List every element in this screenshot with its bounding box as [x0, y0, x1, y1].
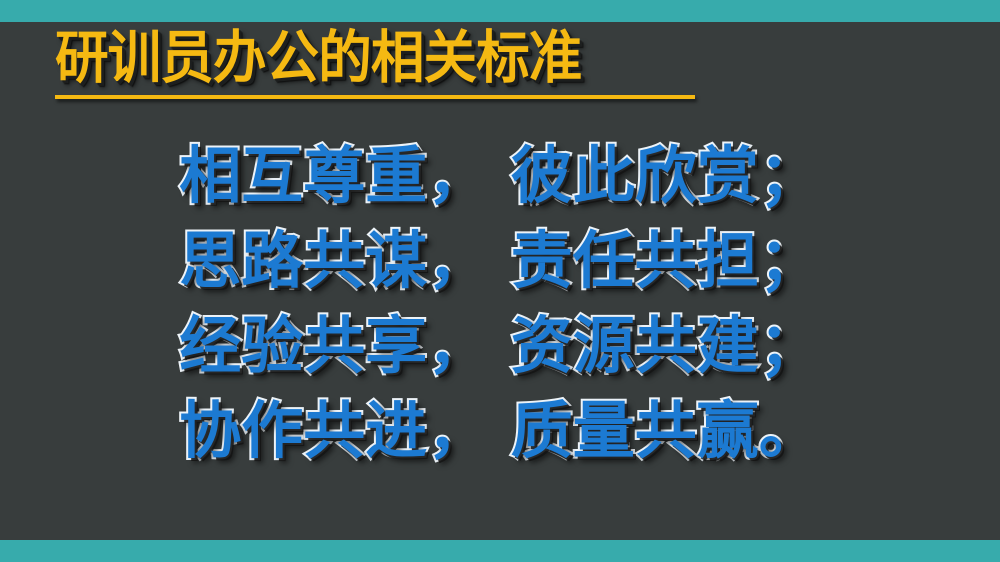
top-accent-bar [0, 0, 1000, 22]
body-text-block: 相互尊重， 彼此欣赏； 思路共谋， 责任共担； 经验共享， 资源共建； 协作共进… [0, 133, 1000, 473]
title-underline-rule [55, 95, 695, 99]
slide-canvas: 研训员办公的相关标准 相互尊重， 彼此欣赏； 思路共谋， 责任共担； 经验共享，… [0, 0, 1000, 562]
page-title: 研训员办公的相关标准 [55, 26, 713, 90]
body-line-1: 相互尊重， 彼此欣赏； [0, 133, 1000, 218]
body-line-4: 协作共进， 质量共赢。 [0, 388, 1000, 473]
title-block: 研训员办公的相关标准 [55, 26, 755, 99]
body-line-2: 思路共谋， 责任共担； [0, 218, 1000, 303]
bottom-accent-bar [0, 540, 1000, 562]
body-line-3: 经验共享， 资源共建； [0, 303, 1000, 388]
